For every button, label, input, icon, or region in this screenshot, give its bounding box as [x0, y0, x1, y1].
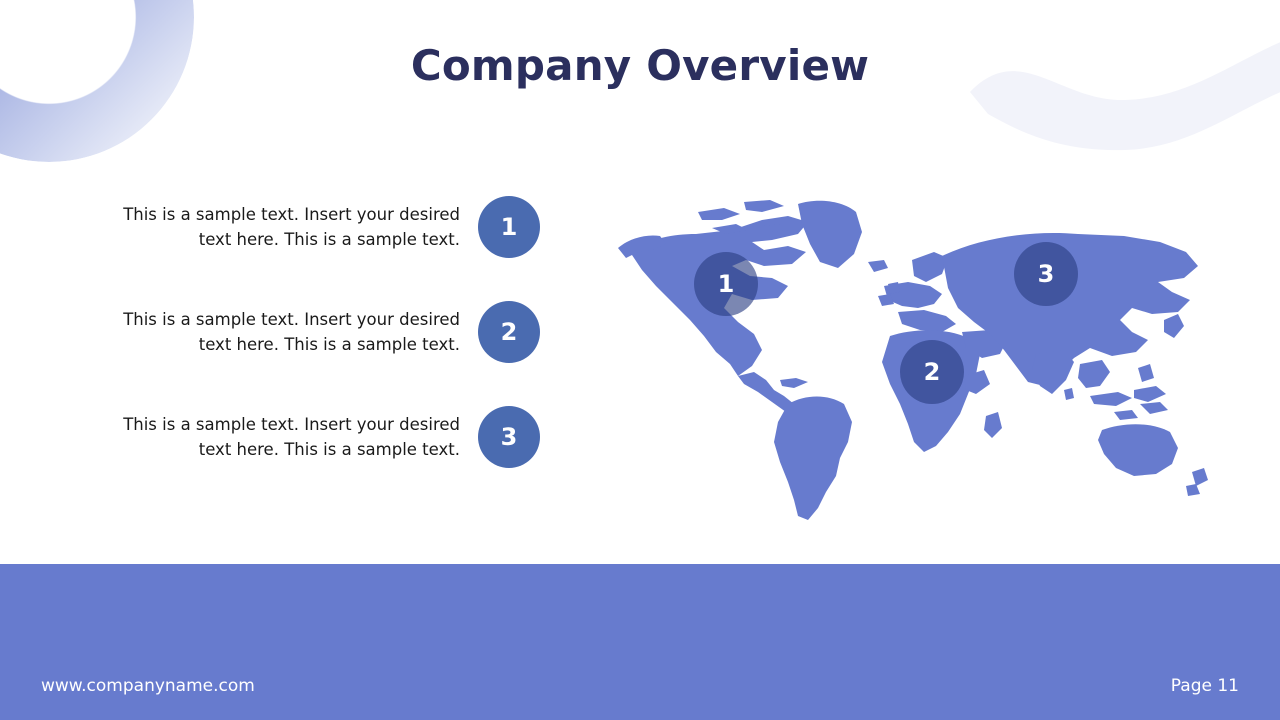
map-marker-2[interactable]: 2 — [900, 340, 964, 404]
footer-website[interactable]: www.companyname.com — [41, 676, 255, 696]
slide: Company Overview This is a sample text. … — [0, 0, 1280, 720]
list-item[interactable]: This is a sample text. Insert your desir… — [40, 406, 540, 468]
list-item[interactable]: This is a sample text. Insert your desir… — [40, 196, 540, 258]
map-marker-3[interactable]: 3 — [1014, 242, 1078, 306]
footer-band: www.companyname.com Page 11 — [0, 564, 1280, 720]
list-item[interactable]: This is a sample text. Insert your desir… — [40, 301, 540, 363]
page-title: Company Overview — [0, 41, 1280, 90]
footer-page-number: Page 11 — [1171, 676, 1239, 696]
list-item-text: This is a sample text. Insert your desir… — [102, 412, 478, 462]
map-marker-1[interactable]: 1 — [694, 252, 758, 316]
bullet-list: This is a sample text. Insert your desir… — [40, 196, 540, 468]
list-item-number-badge: 2 — [478, 301, 540, 363]
world-map: 1 2 3 — [612, 190, 1232, 530]
list-item-text: This is a sample text. Insert your desir… — [102, 202, 478, 252]
list-item-number-badge: 1 — [478, 196, 540, 258]
list-item-text: This is a sample text. Insert your desir… — [102, 307, 478, 357]
list-item-number-badge: 3 — [478, 406, 540, 468]
